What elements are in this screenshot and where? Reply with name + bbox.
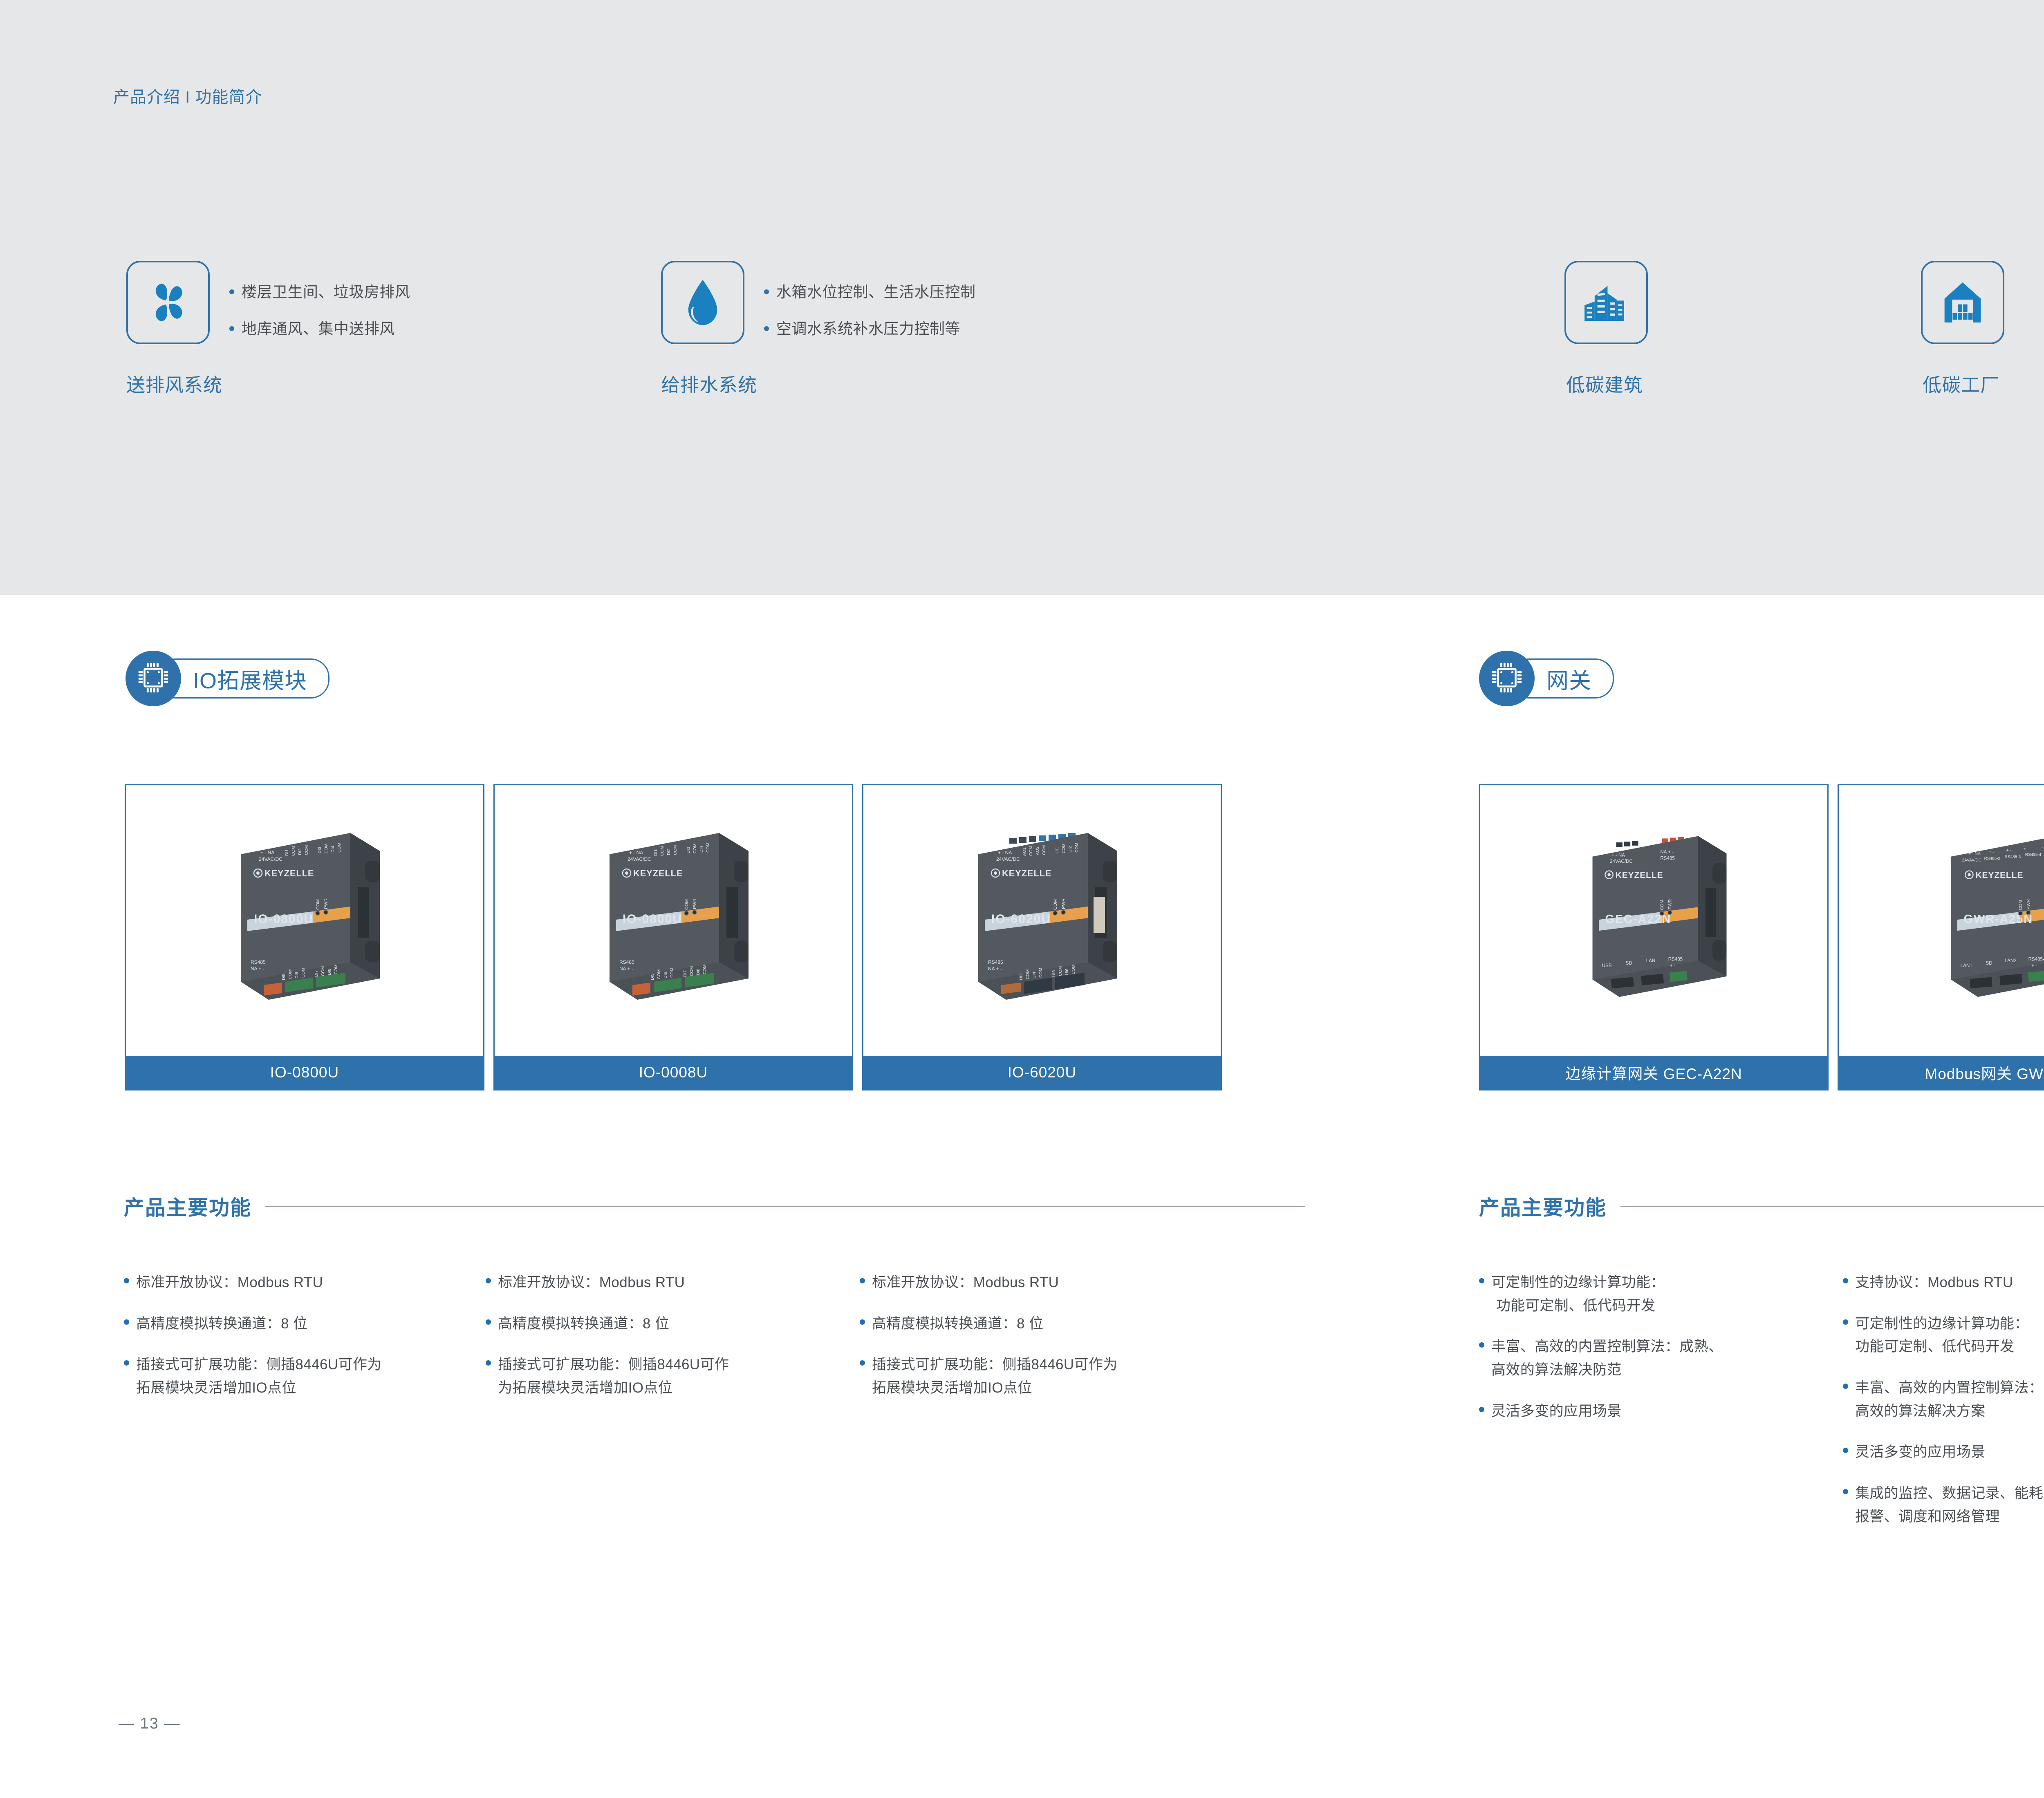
list-item: 高精度模拟转换通道：8 位 xyxy=(486,1312,860,1336)
svg-text:DI3: DI3 xyxy=(686,847,691,853)
svg-text:LAN1: LAN1 xyxy=(1960,963,1972,968)
svg-text:KEYZELLE: KEYZELLE xyxy=(264,868,314,878)
application-label-ventilation: 送排风系统 xyxy=(126,370,222,397)
device-image-io-0008u: + - NA 24VAC/DC DI1 COM DI2 COM DI3 COM … xyxy=(559,818,788,1023)
product-name: Modbus网关 GWR-A25N xyxy=(1839,1056,2044,1089)
product-name: IO-0800U xyxy=(126,1056,483,1089)
product-name: 边缘计算网关 GEC-A22N xyxy=(1480,1056,1827,1089)
water-drop-icon xyxy=(680,277,726,328)
product-card[interactable]: + - NA 24VAC/DC DI1 COM DI2 COM DI3 COM … xyxy=(493,784,853,1090)
svg-text:+ - NA: + - NA xyxy=(260,850,274,855)
list-item: 插接式可扩展功能：侧插8446U可作为拓展模块灵活增加IO点位 xyxy=(486,1353,860,1399)
svg-text:COM: COM xyxy=(657,970,661,979)
svg-text:AO2: AO2 xyxy=(1035,846,1040,855)
product-photo: + - NA 24VAC/DC NA + - RS485 GEC-A22N CO… xyxy=(1480,785,1827,1056)
features-heading-text: 产品主要功能 xyxy=(1479,1191,1607,1221)
office-buildings-icon xyxy=(1581,278,1632,327)
svg-text:DI1: DI1 xyxy=(285,849,289,856)
svg-text:+ -: + - xyxy=(1670,963,1675,968)
svg-text:COM: COM xyxy=(1071,965,1076,974)
svg-text:COM: COM xyxy=(1029,846,1033,856)
svg-text:RS485: RS485 xyxy=(619,959,634,965)
product-card[interactable]: + - NA 24VAC/DC AO1 COM AO2 COM UI1 COM … xyxy=(862,784,1222,1090)
svg-text:UI5: UI5 xyxy=(1052,970,1056,977)
svg-text:RS485-4: RS485-4 xyxy=(2025,853,2041,857)
bullet-dot xyxy=(124,1278,129,1283)
list-item: 地库通风、集中送排风 xyxy=(229,320,410,338)
svg-text:DI3: DI3 xyxy=(318,847,322,853)
svg-text:COM: COM xyxy=(321,966,325,976)
svg-text:COM: COM xyxy=(693,844,697,853)
list-item: 灵活多变的应用场景 xyxy=(1479,1400,1843,1423)
application-block-ventilation: 楼层卫生间、垃圾房排风 地库通风、集中送排风 送排风系统 xyxy=(126,261,210,344)
list-item: 集成的监控、数据记录、能耗计量、报警、调度和网络管理 xyxy=(1843,1482,2044,1528)
product-photo: + - NA 24VAC/DC AO1 COM AO2 COM UI1 COM … xyxy=(863,785,1221,1056)
svg-text:NA + -: NA + - xyxy=(1660,850,1674,855)
svg-text:DI8: DI8 xyxy=(696,969,701,975)
svg-text:COM: COM xyxy=(1062,844,1066,853)
feature-column: 支持协议：Modbus RTU 可定制性的边缘计算功能：功能可定制、低代码开发 … xyxy=(1843,1271,2044,1529)
application-block-water: 水箱水位控制、生活水压控制 空调水系统补水压力控制等 给排水系统 xyxy=(661,261,744,344)
water-drop-icon-box xyxy=(661,261,744,344)
svg-text:KEYZELLE: KEYZELLE xyxy=(1615,871,1663,880)
product-name: IO-0008U xyxy=(495,1056,852,1089)
device-image-gec-a22n: + - NA 24VAC/DC NA + - RS485 GEC-A22N CO… xyxy=(1544,818,1764,1023)
svg-text:UI6: UI6 xyxy=(1065,969,1069,975)
svg-text:DI2: DI2 xyxy=(298,849,303,855)
device-image-io-6020u: + - NA 24VAC/DC AO1 COM AO2 COM UI1 COM … xyxy=(928,818,1156,1023)
svg-text:RS485-2: RS485-2 xyxy=(1984,857,2000,861)
svg-text:DI6: DI6 xyxy=(663,972,668,978)
svg-text:COM: COM xyxy=(1660,900,1665,910)
svg-text:+ -: + - xyxy=(2031,963,2037,968)
svg-text:COM: COM xyxy=(1058,966,1063,976)
bullet-dot xyxy=(124,1360,129,1366)
bullet-dot xyxy=(1843,1489,1848,1494)
fan-icon-box xyxy=(126,261,210,344)
feature-column: 可定制性的边缘计算功能：功能可定制、低代码开发 丰富、高效的内置控制算法：成熟、… xyxy=(1479,1271,1843,1529)
svg-text:+ -: + - xyxy=(1989,850,1994,855)
water-bullet-list: 水箱水位控制、生活水压控制 空调水系统补水压力控制等 xyxy=(764,283,976,339)
feature-column: 标准开放协议：Modbus RTU 高精度模拟转换通道：8 位 插接式可扩展功能… xyxy=(860,1271,1228,1400)
chip-icon xyxy=(136,660,171,697)
bullet-dot xyxy=(486,1319,491,1325)
list-item: 高精度模拟转换通道：8 位 xyxy=(860,1312,1228,1336)
features-heading-gateways: 产品主要功能 xyxy=(1479,1191,2044,1221)
list-item: 标准开放协议：Modbus RTU xyxy=(124,1271,486,1294)
svg-text:COM: COM xyxy=(337,843,342,853)
list-item: 标准开放协议：Modbus RTU xyxy=(486,1271,860,1294)
bullet-dot xyxy=(1479,1278,1484,1283)
svg-text:COM: COM xyxy=(684,899,689,910)
section-title-io-modules: IO拓展模块 xyxy=(193,663,307,695)
page-number-left: — 13 — xyxy=(119,1715,180,1733)
svg-text:NA + -: NA + - xyxy=(988,966,1002,972)
bullet-dot xyxy=(860,1319,865,1325)
list-item: 水箱水位控制、生活水压控制 xyxy=(764,283,976,302)
bullet-dot xyxy=(124,1319,129,1325)
features-heading-io: 产品主要功能 xyxy=(124,1191,1305,1221)
svg-text:COM: COM xyxy=(324,844,329,853)
bullet-dot xyxy=(860,1360,865,1366)
application-label-low-carbon-factory: 低碳工厂 xyxy=(1921,370,2001,397)
svg-text:COM: COM xyxy=(690,966,694,976)
svg-text:LAN2: LAN2 xyxy=(2004,958,2016,963)
svg-text:COM: COM xyxy=(288,970,293,979)
svg-text:DI6: DI6 xyxy=(295,972,299,978)
bullet-dot xyxy=(860,1278,865,1283)
application-block-low-carbon-factory: 低碳工厂 xyxy=(1921,261,2004,344)
product-photo: + - NA 24VAC/DC DI1 COM DI2 COM DI3 COM … xyxy=(495,785,852,1056)
svg-text:24VAC/DC: 24VAC/DC xyxy=(996,856,1020,862)
svg-text:24VAC/DC: 24VAC/DC xyxy=(1610,859,1633,864)
product-cards-io: + - NA 24VAC/DC DI1 COM DI2 COM DI3 COM … xyxy=(125,784,1222,1090)
product-name: IO-6020U xyxy=(863,1056,1221,1089)
product-photo: + - NA 24VAC/DC DI1 COM DI2 COM DI3 COM … xyxy=(126,785,483,1056)
bullet-dot xyxy=(764,289,769,294)
svg-text:COM: COM xyxy=(1026,970,1030,979)
svg-text:24VAC/DC: 24VAC/DC xyxy=(259,856,282,862)
svg-text:24VAC/DC: 24VAC/DC xyxy=(628,856,651,862)
svg-text:IO-0800U: IO-0800U xyxy=(254,912,314,926)
application-label-low-carbon-building: 低碳建筑 xyxy=(1564,370,1645,397)
svg-text:NA + -: NA + - xyxy=(619,966,633,972)
section-pill-io-modules: IO拓展模块 xyxy=(157,658,329,699)
bullet-dot xyxy=(1479,1342,1484,1348)
list-item: 空调水系统补水压力控制等 xyxy=(764,320,976,338)
svg-text:PWR: PWR xyxy=(2026,899,2031,909)
svg-text:RS485-3: RS485-3 xyxy=(2004,855,2021,860)
ventilation-bullet-list: 楼层卫生间、垃圾房排风 地库通风、集中送排风 xyxy=(229,283,410,339)
svg-text:DI7: DI7 xyxy=(683,970,688,977)
bullet-dot xyxy=(1843,1278,1848,1283)
svg-text:2AVAV/DC: 2AVAV/DC xyxy=(1962,858,1981,862)
svg-text:PWR: PWR xyxy=(1667,899,1672,909)
svg-text:DI5: DI5 xyxy=(282,974,286,980)
svg-text:COM: COM xyxy=(673,845,678,855)
svg-text:COM: COM xyxy=(1053,899,1058,910)
bullet-dot xyxy=(229,289,234,294)
heading-rule xyxy=(265,1206,1305,1207)
svg-text:COM: COM xyxy=(334,965,338,974)
bullet-dot xyxy=(486,1360,491,1366)
svg-text:KEYZELLE: KEYZELLE xyxy=(1002,868,1051,878)
list-item: 灵活多变的应用场景 xyxy=(1843,1441,2044,1464)
bullet-dot xyxy=(1843,1319,1848,1325)
svg-text:UI3: UI3 xyxy=(1019,974,1024,980)
chip-icon-badge xyxy=(126,651,181,706)
svg-text:COM: COM xyxy=(2018,900,2023,910)
svg-text:COM: COM xyxy=(1075,843,1079,853)
list-item: 丰富、高效的内置控制算法：成熟、高效的算法解决防范 xyxy=(1479,1335,1843,1382)
svg-text:DI4: DI4 xyxy=(331,846,335,853)
svg-text:IO-6020U: IO-6020U xyxy=(991,912,1051,926)
svg-text:UI2: UI2 xyxy=(1068,846,1073,853)
bullet-dot xyxy=(229,326,234,331)
svg-text:PWR: PWR xyxy=(693,898,697,909)
svg-text:PWR: PWR xyxy=(324,898,329,909)
office-buildings-icon-box xyxy=(1564,261,1648,344)
device-image-gwr-a25n: + - NA + - + - + - + - 2AVAV/DC RS485-2 … xyxy=(1902,818,2044,1023)
feature-columns-io: 标准开放协议：Modbus RTU 高精度模拟转换通道：8 位 插接式可扩展功能… xyxy=(124,1271,1228,1400)
factory-icon xyxy=(1940,278,1986,327)
bullet-dot xyxy=(1479,1407,1484,1412)
svg-text:UI1: UI1 xyxy=(1055,847,1060,853)
section-title-gateways: 网关 xyxy=(1546,663,1591,695)
bullet-dot xyxy=(486,1278,491,1283)
svg-text:DI4: DI4 xyxy=(699,846,704,853)
running-head-left: 产品介绍 I 功能简介 xyxy=(113,84,262,107)
svg-text:+ - NA: + - NA xyxy=(1968,852,1981,856)
svg-text:KEYZELLE: KEYZELLE xyxy=(1975,871,2023,880)
svg-text:RS485-1: RS485-1 xyxy=(2028,957,2044,962)
svg-text:+ - NA: + - NA xyxy=(1611,853,1625,858)
svg-text:+ -: + - xyxy=(2006,849,2011,853)
feature-column: 标准开放协议：Modbus RTU 高精度模拟转换通道：8 位 插接式可扩展功能… xyxy=(486,1271,860,1400)
svg-text:DI5: DI5 xyxy=(650,974,655,980)
svg-text:DI2: DI2 xyxy=(667,849,671,855)
svg-text:DI8: DI8 xyxy=(327,969,332,975)
product-photo: + - NA + - + - + - + - 2AVAV/DC RS485-2 … xyxy=(1839,785,2044,1056)
svg-text:COM: COM xyxy=(703,965,707,974)
svg-text:KEYZELLE: KEYZELLE xyxy=(633,868,683,878)
bullet-dot xyxy=(764,326,769,331)
list-item: 插接式可扩展功能：侧插8446U可作为拓展模块灵活增加IO点位 xyxy=(124,1353,486,1399)
product-card[interactable]: + - NA 24VAC/DC DI1 COM DI2 COM DI3 COM … xyxy=(125,784,484,1090)
application-label-water: 给排水系统 xyxy=(661,370,757,397)
product-cards-gateways: + - NA 24VAC/DC NA + - RS485 GEC-A22N CO… xyxy=(1479,784,2044,1090)
svg-text:UI4: UI4 xyxy=(1032,972,1037,978)
section-header-io-modules: IO拓展模块 xyxy=(126,651,329,706)
svg-text:COM: COM xyxy=(660,846,665,856)
svg-text:COM: COM xyxy=(305,845,309,855)
svg-text:COM: COM xyxy=(316,899,320,910)
svg-text:RS485: RS485 xyxy=(251,959,266,965)
svg-text:RS485: RS485 xyxy=(1668,957,1682,962)
svg-text:LAN: LAN xyxy=(1646,958,1655,963)
bullet-dot xyxy=(1843,1448,1848,1453)
list-item: 插接式可扩展功能：侧插8446U可作为拓展模块灵活增加IO点位 xyxy=(860,1353,1228,1399)
svg-text:GWR-A25N: GWR-A25N xyxy=(1963,913,2033,926)
product-card[interactable]: + - NA 24VAC/DC NA + - RS485 GEC-A22N CO… xyxy=(1479,784,1829,1090)
features-heading-text: 产品主要功能 xyxy=(124,1191,251,1221)
list-item: 丰富、高效的内置控制算法：成熟、高效的算法解决方案 xyxy=(1843,1377,2044,1423)
feature-column: 标准开放协议：Modbus RTU 高精度模拟转换通道：8 位 插接式可扩展功能… xyxy=(124,1271,486,1400)
svg-text:RS485: RS485 xyxy=(988,959,1003,965)
list-item: 可定制性的边缘计算功能：功能可定制、低代码开发 xyxy=(1479,1271,1843,1317)
svg-text:COM: COM xyxy=(670,968,675,978)
list-item: 可定制性的边缘计算功能：功能可定制、低代码开发 xyxy=(1843,1312,2044,1359)
svg-text:IO-0800U: IO-0800U xyxy=(623,912,682,926)
chip-icon-badge xyxy=(1479,651,1535,706)
svg-text:SD: SD xyxy=(1625,961,1632,966)
list-item: 楼层卫生间、垃圾房排风 xyxy=(229,283,410,302)
svg-text:COM: COM xyxy=(1039,968,1043,978)
bullet-dot xyxy=(1843,1384,1848,1389)
svg-text:NA + -: NA + - xyxy=(251,966,264,972)
list-item: 支持协议：Modbus RTU xyxy=(1843,1271,2044,1294)
svg-text:RS485: RS485 xyxy=(1660,856,1674,861)
svg-text:COM: COM xyxy=(301,968,306,978)
svg-text:+ - NA: + - NA xyxy=(629,850,643,855)
heading-rule xyxy=(1620,1206,2044,1207)
svg-text:DI7: DI7 xyxy=(314,970,319,977)
svg-text:PWR: PWR xyxy=(1061,898,1066,909)
svg-text:COM: COM xyxy=(291,846,296,856)
svg-text:COM: COM xyxy=(706,843,710,853)
svg-text:DI1: DI1 xyxy=(654,849,658,856)
list-item: 标准开放协议：Modbus RTU xyxy=(860,1271,1228,1294)
section-header-gateways: 网关 xyxy=(1479,651,1614,706)
product-card[interactable]: + - NA + - + - + - + - 2AVAV/DC RS485-2 … xyxy=(1838,784,2044,1090)
svg-text:SD: SD xyxy=(1986,961,1992,966)
application-block-low-carbon-building: 低碳建筑 xyxy=(1564,261,1648,344)
feature-columns-gateways: 可定制性的边缘计算功能：功能可定制、低代码开发 丰富、高效的内置控制算法：成熟、… xyxy=(1479,1271,2044,1529)
chip-icon xyxy=(1489,660,1524,697)
svg-text:USB: USB xyxy=(1602,963,1611,968)
svg-text:+ -: + - xyxy=(2041,846,2044,850)
factory-icon-box xyxy=(1921,261,2004,344)
svg-text:COM: COM xyxy=(1042,845,1047,855)
svg-text:+ -: + - xyxy=(2024,847,2028,851)
svg-text:+ - NA: + - NA xyxy=(998,850,1012,855)
device-image-io-0800u: + - NA 24VAC/DC DI1 COM DI2 COM DI3 COM … xyxy=(190,818,419,1023)
list-item: 高精度模拟转换通道：8 位 xyxy=(124,1312,486,1336)
fan-icon xyxy=(142,277,194,328)
svg-text:AO1: AO1 xyxy=(1022,847,1027,856)
